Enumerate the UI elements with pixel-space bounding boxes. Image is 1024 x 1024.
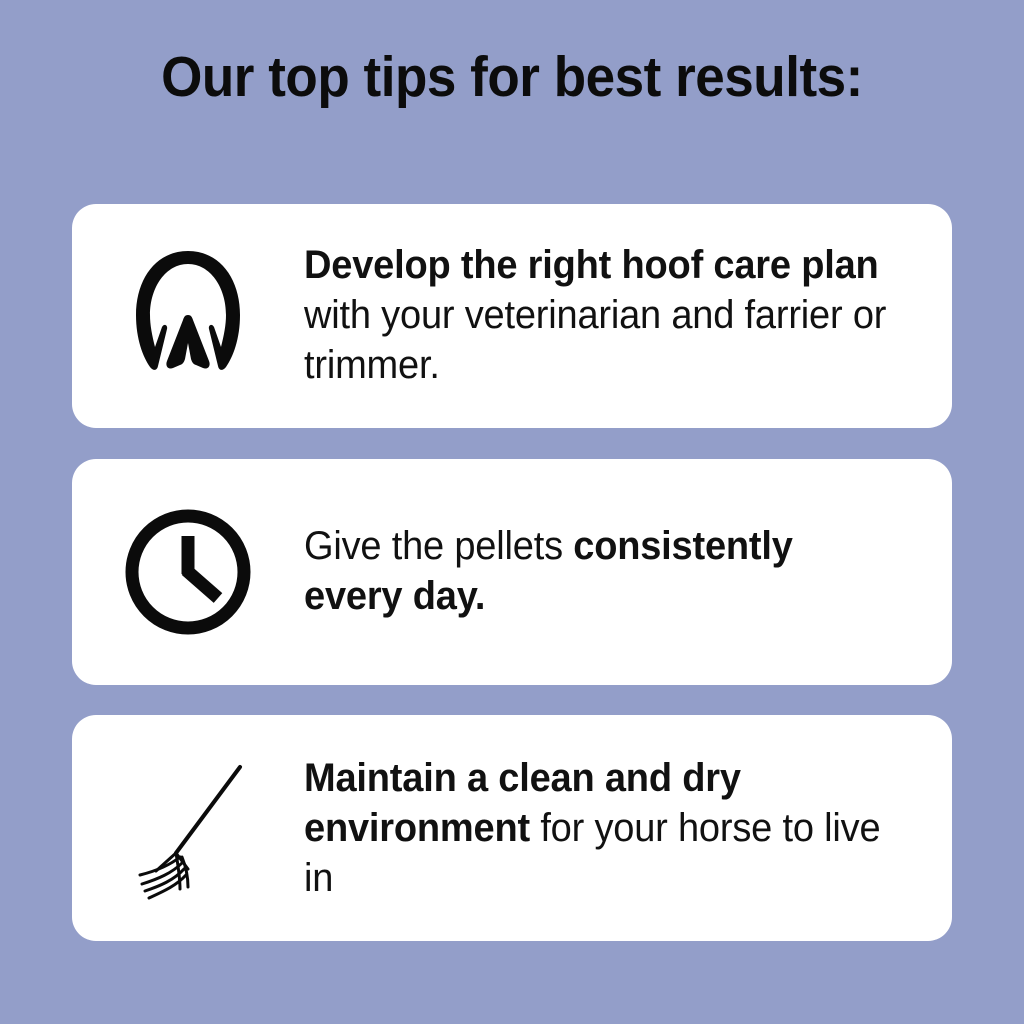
- tip-icon-wrapper: [72, 204, 304, 428]
- poster-canvas: Our top tips for best results: Develop t…: [0, 0, 1024, 1024]
- tip-icon-wrapper: [72, 459, 304, 685]
- tip-text: Give the pellets consistently every day.: [304, 521, 920, 621]
- tip-icon-wrapper: [72, 715, 304, 941]
- tip-card-clean-environment[interactable]: Maintain a clean and dry environment for…: [72, 715, 952, 941]
- tip-card-consistency[interactable]: Give the pellets consistently every day.: [72, 459, 952, 685]
- horse-hoof-icon: [122, 243, 254, 383]
- muck-rake-icon: [118, 753, 268, 903]
- tips-list: Develop the right hoof care plan with yo…: [72, 204, 952, 941]
- clock-icon: [122, 506, 254, 638]
- tip-card-hoof-care[interactable]: Develop the right hoof care plan with yo…: [72, 204, 952, 428]
- tip-text: Develop the right hoof care plan with yo…: [304, 240, 920, 390]
- tip-text: Maintain a clean and dry environment for…: [304, 753, 920, 903]
- page-title: Our top tips for best results:: [36, 48, 988, 108]
- tip-text-bold: Develop the right hoof care plan: [304, 243, 879, 287]
- tip-text-rest: with your veterinarian and farrier or tr…: [304, 293, 886, 387]
- tip-text-lead: Give the pellets: [304, 524, 573, 568]
